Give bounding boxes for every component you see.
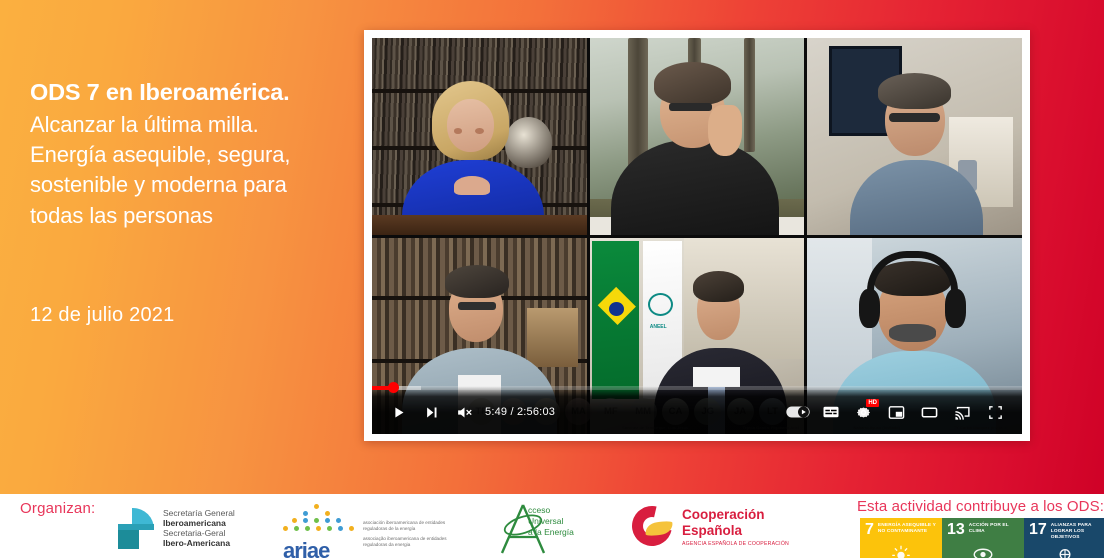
ariae-dots-icon: ariae xyxy=(283,504,355,544)
coop-line-1: Cooperación xyxy=(682,507,789,523)
video-player[interactable]: ANEEL TP xyxy=(372,38,1022,434)
page-title: ODS 7 en Iberoamérica. xyxy=(30,78,360,108)
title-subline-4: todas las personas xyxy=(30,201,360,231)
ods-number: 17 xyxy=(1029,522,1047,538)
miniplayer-button[interactable] xyxy=(880,396,913,429)
ods-badge-13: 13 ACCIÓN POR EL CLIMA xyxy=(942,518,1024,558)
participant-video-grid: ANEEL xyxy=(372,38,1022,434)
segib-line-2: Iberoamericana xyxy=(163,518,235,528)
ods-heading: Esta actividad contribuye a los ODS: xyxy=(857,498,1104,515)
acceso-line-1: cceso xyxy=(528,505,574,516)
autoplay-toggle[interactable] xyxy=(781,396,814,429)
ods-badge-row: 7 ENERGÍA ASEQUIBLE Y NO CONTAMINANTE 13… xyxy=(860,518,1104,558)
acceso-line-2: Universal xyxy=(528,516,574,527)
ods-label: ALIANZAS PARA LOGRAR LOS OBJETIVOS xyxy=(1051,522,1101,540)
sun-energy-icon xyxy=(890,544,912,558)
ariae-pt-2: reguladoras da energia xyxy=(363,542,447,548)
tile-woman-bookshelf xyxy=(372,38,587,235)
title-subline-3: sostenible y moderna para xyxy=(30,170,360,200)
segib-line-1: Secretaría General xyxy=(163,508,235,518)
video-player-frame[interactable]: ANEEL TP xyxy=(364,30,1030,441)
ods-badge-17: 17 ALIANZAS PARA LOGRAR LOS OBJETIVOS xyxy=(1024,518,1104,558)
cooperacion-c-icon xyxy=(632,506,674,548)
event-date: 12 de julio 2021 xyxy=(30,304,174,327)
acceso-line-3: a la Energía xyxy=(528,527,574,538)
theater-mode-button[interactable] xyxy=(913,396,946,429)
title-block: ODS 7 en Iberoamérica. Alcanzar la últim… xyxy=(30,78,360,231)
footer-bar: Organizan: Secretaría General Iberoameri… xyxy=(0,494,1104,558)
hd-quality-badge: HD xyxy=(866,399,879,407)
logo-ariae: ariae asociación iberoamericana de entid… xyxy=(283,504,447,548)
climate-eye-icon xyxy=(972,544,994,558)
tile-man-office xyxy=(807,38,1022,235)
video-timecode: 5:49 / 2:56:03 xyxy=(485,406,555,418)
ods-number: 7 xyxy=(865,522,874,538)
ariae-es-1: asociación iberoamericana de entidades xyxy=(363,520,447,526)
settings-button[interactable]: HD xyxy=(847,396,880,429)
segib-mark-icon xyxy=(118,508,156,548)
tile-man-forest-backdrop xyxy=(590,38,805,235)
title-subline-2: Energía asequible, segura, xyxy=(30,140,360,170)
ariae-es-2: reguladoras de la energía xyxy=(363,526,447,532)
logo-segib: Secretaría General Iberoamericana Secret… xyxy=(118,508,235,548)
organizan-label: Organizan: xyxy=(20,500,95,517)
coop-line-3: AGENCIA ESPAÑOLA DE COOPERACIÓN xyxy=(682,541,789,547)
cast-button[interactable] xyxy=(946,396,979,429)
ods-number: 13 xyxy=(947,522,965,538)
segib-line-3: Secretaria-Geral xyxy=(163,528,235,538)
ods-label: ENERGÍA ASEQUIBLE Y NO CONTAMINANTE xyxy=(878,522,937,535)
play-button[interactable] xyxy=(382,396,415,429)
title-subline-1: Alcanzar la última milla. xyxy=(30,110,360,140)
logo-cooperacion-espanola: Cooperación Española AGENCIA ESPAÑOLA DE… xyxy=(632,506,789,548)
ariae-wordmark: ariae xyxy=(283,538,329,558)
partnership-circle-icon xyxy=(1054,544,1076,558)
subtitles-button[interactable] xyxy=(814,396,847,429)
video-controls-bar[interactable]: 5:49 / 2:56:03 xyxy=(372,386,1022,434)
coop-line-2: Española xyxy=(682,523,789,539)
next-button[interactable] xyxy=(415,396,448,429)
segib-line-4: Ibero-Americana xyxy=(163,538,235,548)
mute-button[interactable] xyxy=(448,396,481,429)
ods-badge-7: 7 ENERGÍA ASEQUIBLE Y NO CONTAMINANTE xyxy=(860,518,942,558)
ods-label: ACCIÓN POR EL CLIMA xyxy=(969,522,1019,535)
fullscreen-button[interactable] xyxy=(979,396,1012,429)
logo-acceso-universal: cceso Universal a la Energía xyxy=(500,502,592,558)
